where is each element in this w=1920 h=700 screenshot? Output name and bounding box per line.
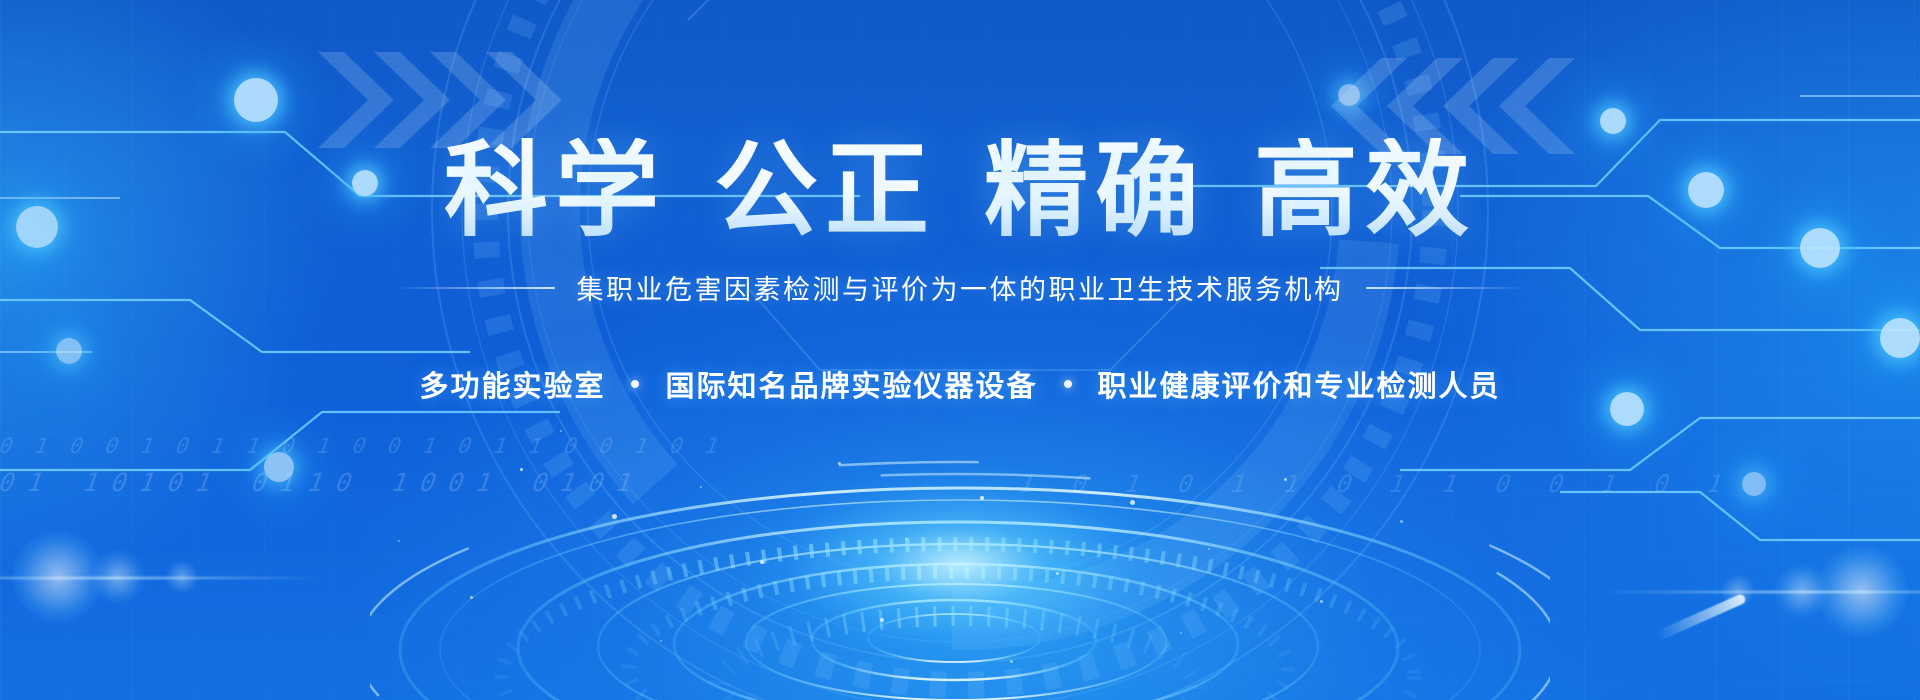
hero-banner: 0 1 0 0 1 0 1 1 0 1 0 0 1 0 1 1 0 0 1 0 … <box>0 0 1920 700</box>
subtitle-row: 集职业危害因素检测与评价为一体的职业卫生技术服务机构 <box>395 268 1526 307</box>
headline-word-2: 公正 <box>690 138 960 244</box>
feature-list: 多功能实验室 国际知名品牌实验仪器设备 职业健康评价和专业检测人员 <box>419 363 1500 405</box>
headline-word-3: 精确 <box>960 138 1230 244</box>
feature-item-2: 国际知名品牌实验仪器设备 <box>665 363 1037 405</box>
feature-item-1: 多功能实验室 <box>419 363 605 405</box>
subtitle-text: 集职业危害因素检测与评价为一体的职业卫生技术服务机构 <box>577 268 1344 307</box>
headline-word-4: 高效 <box>1230 138 1500 244</box>
bullet-separator-icon <box>1064 380 1072 388</box>
banner-content: 科学 公正 精确 高效 集职业危害因素检测与评价为一体的职业卫生技术服务机构 多… <box>0 0 1920 700</box>
headline-word-1: 科学 <box>420 138 690 244</box>
feature-item-3: 职业健康评价和专业检测人员 <box>1098 363 1501 405</box>
bullet-separator-icon <box>631 380 639 388</box>
subtitle-rule-right <box>1366 287 1526 289</box>
headline: 科学 公正 精确 高效 <box>420 138 1500 244</box>
subtitle-rule-left <box>395 287 555 289</box>
